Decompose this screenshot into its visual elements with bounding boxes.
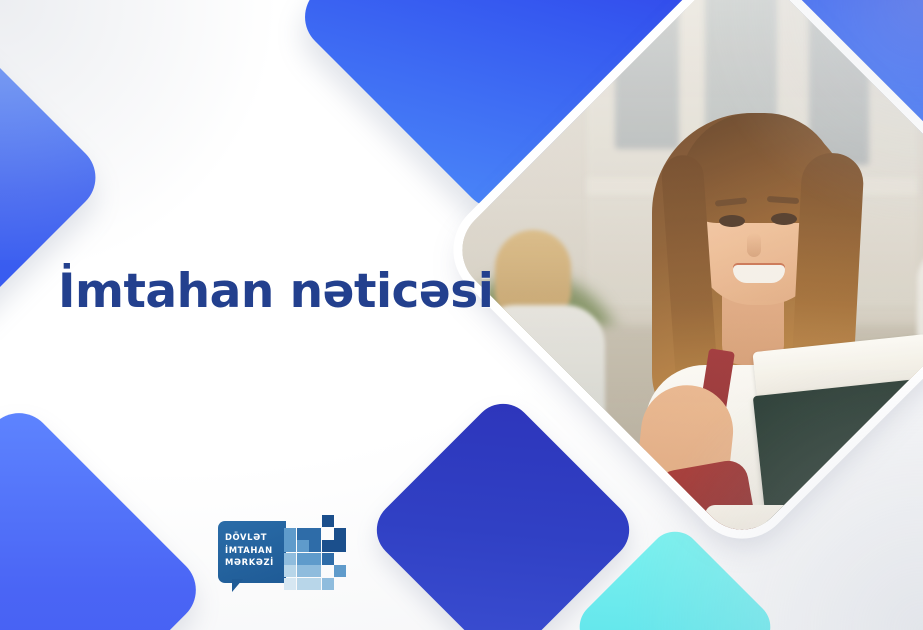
- logo-pixel-square: [284, 528, 296, 540]
- logo-line-3: MƏRKƏZİ: [225, 556, 274, 569]
- exam-result-banner: İmtahan nəticəsi DÖVLƏT İMTAHAN MƏRKƏZİ: [0, 0, 923, 630]
- logo-pixel-square: [297, 565, 309, 577]
- photo-student-hand: [880, 397, 923, 499]
- logo-pixel-square: [309, 540, 321, 552]
- logo-pixel-square: [322, 515, 334, 527]
- logo-speech-tail-icon: [232, 579, 243, 592]
- logo-pixel-square: [297, 553, 309, 565]
- logo-pixel-square: [297, 578, 309, 590]
- decorative-diamond-left-bottom: [0, 399, 210, 630]
- logo-text: DÖVLƏT İMTAHAN MƏRKƏZİ: [225, 531, 274, 569]
- logo-pixel-square: [322, 578, 334, 590]
- logo-pixel-square: [284, 540, 296, 552]
- dovlet-imtahan-merkezi-logo: DÖVLƏT İMTAHAN MƏRKƏZİ: [218, 515, 348, 599]
- page-title: İmtahan nəticəsi: [58, 264, 493, 319]
- logo-pixel-square: [297, 540, 309, 552]
- logo-pixel-square: [284, 553, 296, 565]
- logo-pixel-square: [309, 578, 321, 590]
- logo-pixel-square: [322, 553, 334, 565]
- logo-pixel-square: [284, 565, 296, 577]
- logo-pixel-square: [284, 578, 296, 590]
- logo-pixel-square: [322, 540, 334, 552]
- logo-line-1: DÖVLƏT: [225, 531, 274, 544]
- logo-pixel-grid-icon: [284, 515, 348, 593]
- logo-pixel-square: [309, 528, 321, 540]
- logo-pixel-square: [334, 540, 346, 552]
- logo-pixel-square: [297, 528, 309, 540]
- logo-pixel-square: [309, 565, 321, 577]
- logo-pixel-square: [334, 565, 346, 577]
- logo-pixel-square: [334, 528, 346, 540]
- photo-wooden-table: [901, 370, 923, 547]
- logo-pixel-square: [309, 553, 321, 565]
- logo-line-2: İMTAHAN: [225, 544, 274, 557]
